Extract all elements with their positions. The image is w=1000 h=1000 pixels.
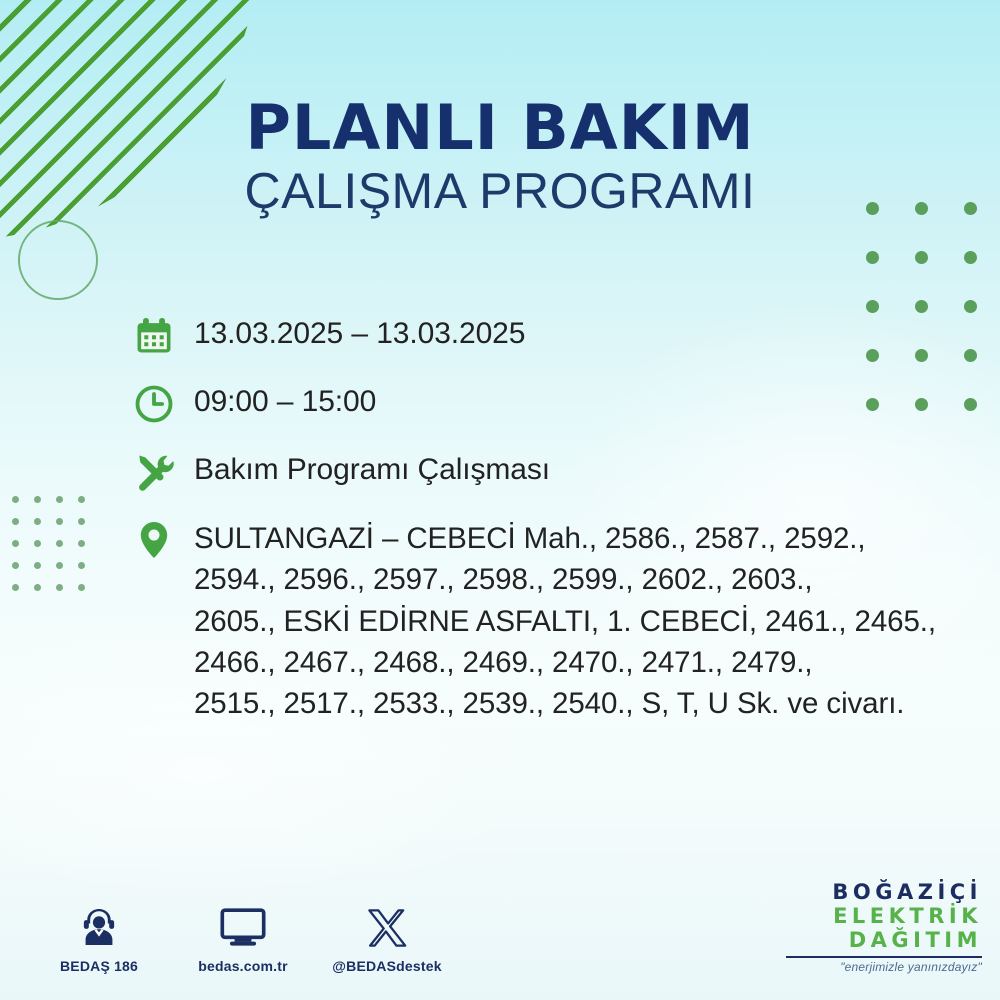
address-line: 2605., ESKİ EDİRNE ASFALTI, 1. CEBECİ, 2… [194, 601, 936, 642]
address-line: 2594., 2596., 2597., 2598., 2599., 2602.… [194, 559, 936, 600]
address-line: 2466., 2467., 2468., 2469., 2470., 2471.… [194, 642, 936, 683]
logo-line-bogazici: BOĞAZİÇİ [762, 881, 982, 905]
detail-time-range: 09:00 – 15:00 [194, 380, 376, 422]
x-twitter-icon [332, 898, 442, 950]
logo-line-elektrik: ELEKTRİK [762, 905, 982, 929]
logo-divider [786, 956, 982, 958]
poster-footer: BEDAŞ 186 bedas.com.tr [0, 868, 1000, 988]
detail-row-time: 09:00 – 15:00 [132, 380, 992, 426]
address-line: SULTANGAZİ – CEBECİ Mah., 2586., 2587., … [194, 518, 936, 559]
detail-row-worktype: Bakım Programı Çalışması [132, 448, 992, 494]
contact-website[interactable]: bedas.com.tr [188, 898, 298, 974]
contact-x-label: @BEDASdestek [332, 958, 442, 974]
page-title: PLANLI BAKIM [0, 96, 1000, 159]
logo-tagline: "enerjimizle yanınızdayız" [762, 960, 982, 974]
page-subtitle: ÇALIŞMA PROGRAMI [0, 165, 1000, 218]
detail-work-type: Bakım Programı Çalışması [194, 448, 550, 490]
poster-canvas: PLANLI BAKIM ÇALIŞMA PROGRAMI [0, 0, 1000, 1000]
contact-phone[interactable]: BEDAŞ 186 [44, 898, 154, 974]
monitor-icon [188, 898, 298, 950]
contact-x-handle[interactable]: @BEDASdestek [332, 898, 442, 974]
contact-channels: BEDAŞ 186 bedas.com.tr [44, 898, 442, 974]
detail-address: SULTANGAZİ – CEBECİ Mah., 2586., 2587., … [194, 516, 936, 724]
circle-outline-decoration [18, 220, 98, 300]
dot-grid-left-decoration [12, 496, 100, 606]
logo-line-dagitim: DAĞITIM [762, 929, 982, 953]
tools-icon [132, 448, 194, 494]
headset-operator-icon [44, 898, 154, 950]
calendar-icon [132, 312, 194, 358]
contact-website-label: bedas.com.tr [188, 958, 298, 974]
address-line: 2515., 2517., 2533., 2539., 2540., S, T,… [194, 683, 936, 724]
poster-header: PLANLI BAKIM ÇALIŞMA PROGRAMI [0, 96, 1000, 218]
outage-details: 13.03.2025 – 13.03.2025 09:00 – 15:00 [132, 312, 992, 746]
location-pin-icon [132, 516, 194, 562]
contact-phone-label: BEDAŞ 186 [44, 958, 154, 974]
clock-icon [132, 380, 194, 426]
detail-row-address: SULTANGAZİ – CEBECİ Mah., 2586., 2587., … [132, 516, 992, 724]
detail-date-range: 13.03.2025 – 13.03.2025 [194, 312, 525, 354]
detail-row-date: 13.03.2025 – 13.03.2025 [132, 312, 992, 358]
bedas-logo: BOĞAZİÇİ ELEKTRİK DAĞITIM "enerjimizle y… [762, 881, 982, 974]
